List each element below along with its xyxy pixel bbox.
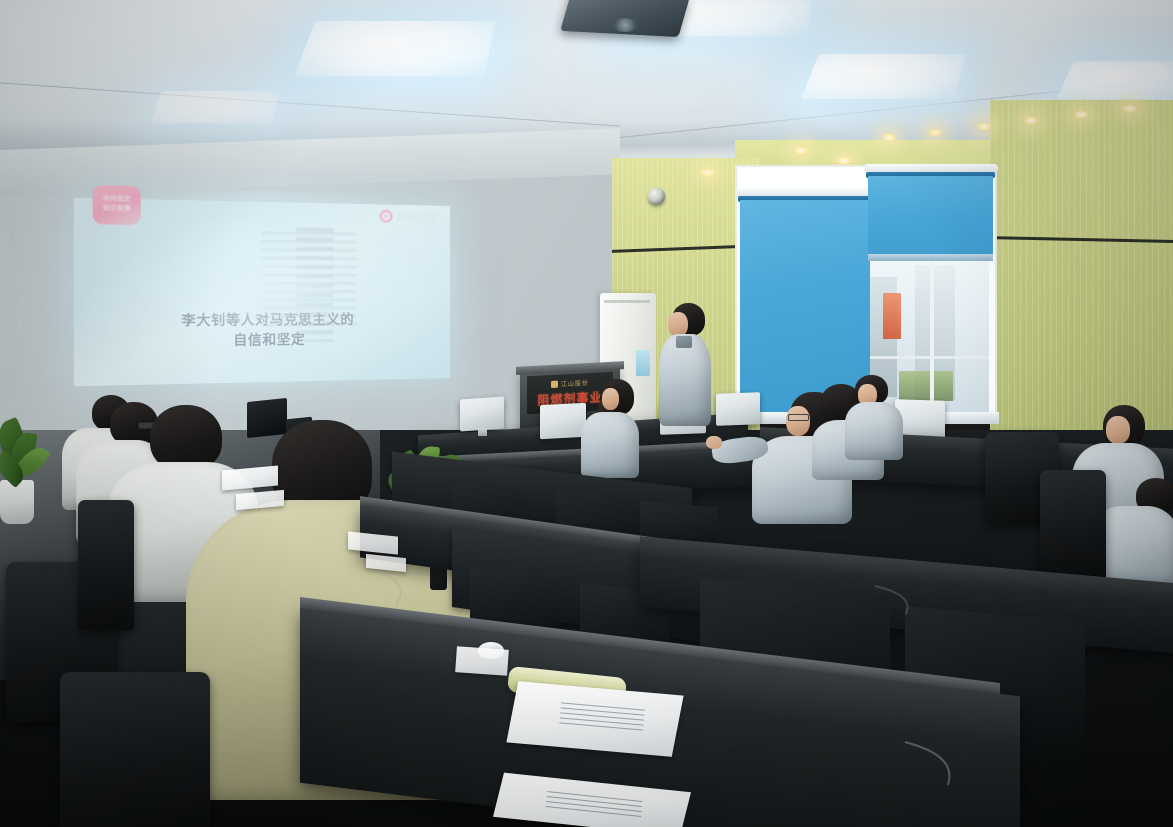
ponytail-woman-face [602,388,619,410]
right-woman-face [1106,416,1130,444]
monitor-far-1[interactable] [460,396,504,431]
downlight-7 [1073,110,1089,119]
projector-lens [612,18,638,32]
play-circle-icon [380,210,393,223]
roller-blind-bottom-rail-right[interactable] [868,254,993,261]
training-room-photo: 中共党史 知识竞赛 网易视频 李大钊等人对马克思主义的 自信和坚定 江山股份 阻… [0,0,1173,827]
ponytail-woman-uniform [581,412,639,478]
chair-left-foreground[interactable] [60,672,210,827]
glasses-man-hand [706,436,722,449]
monitor-far-2[interactable] [540,403,586,439]
downlight-10 [700,168,716,177]
projection-screen: 中共党史 知识竞赛 网易视频 李大钊等人对马克思主义的 自信和坚定 [74,198,450,387]
monitor-far-6[interactable] [247,398,287,438]
video-watermark: 网易视频 [380,209,437,225]
outside-foliage [899,371,953,401]
outside-red-structure [883,293,901,339]
downlight-2 [836,156,852,165]
monitor-far-4[interactable] [716,392,760,426]
presenter-collar [676,336,692,348]
roller-blind-right[interactable] [868,176,993,260]
lectern-company-text: 江山股份 [561,378,589,388]
plant-pot-left [0,480,34,524]
downlight-5 [976,122,992,131]
far-right-uniform [845,402,903,460]
glasses-man-glasses [788,414,809,421]
downlight-1 [793,146,809,155]
ceiling-panel-light-5 [151,91,279,123]
slide-corner-badge: 中共党史 知识竞赛 [93,185,141,225]
downlight-8 [1122,104,1138,113]
slide-subtitle: 李大钊等人对马克思主义的 自信和坚定 [86,310,439,353]
chair-left-rear[interactable] [78,500,134,630]
company-logo-icon [551,381,558,388]
downlight-6 [1023,116,1039,125]
chair-right-2[interactable] [1040,470,1106,580]
ac-control-panel[interactable] [636,350,650,376]
lectern-company-line: 江山股份 [551,378,589,389]
ceiling-panel-light-1 [294,21,495,77]
watermark-label: 网易视频 [397,209,437,225]
glasses-man-face [786,406,810,436]
ceiling-panel-light-4 [1057,62,1173,100]
ceiling-panel-light-3 [800,54,966,99]
slide-badge-line2: 知识竞赛 [103,206,131,213]
window-mullion-horizontal [855,356,989,359]
downlight-4 [927,128,943,137]
monitor-stand-far-1 [478,428,487,436]
downlight-3 [881,133,897,142]
projection-surface: 中共党史 知识竞赛 网易视频 李大钊等人对马克思主义的 自信和坚定 [74,198,450,387]
window-mullion-vertical [930,255,934,415]
slide-subtitle-line2: 自信和坚定 [86,329,439,353]
document-sheet-3[interactable] [455,646,509,676]
dome-security-camera-icon [648,188,665,205]
slide-badge-line1: 中共党史 [103,196,131,203]
ac-vent [604,300,650,303]
